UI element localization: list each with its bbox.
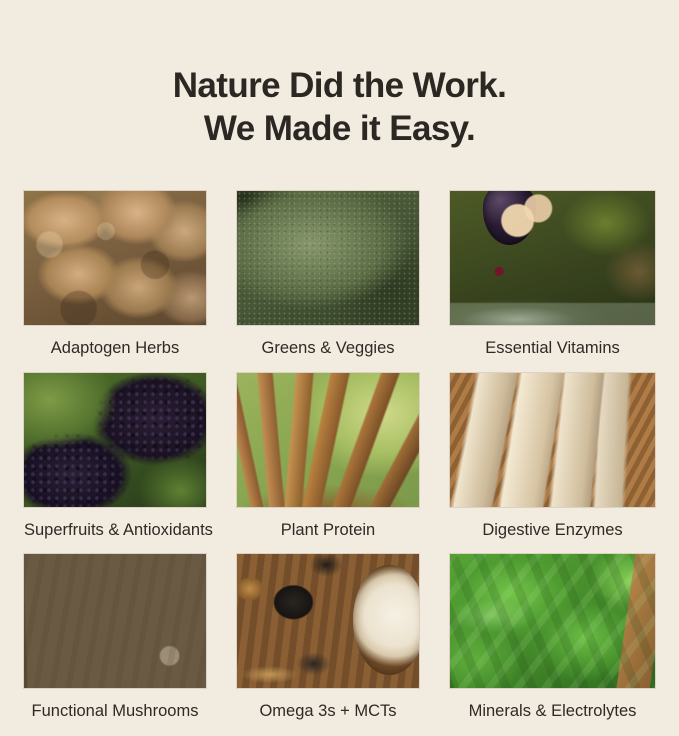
functional-mushrooms-photo — [24, 554, 206, 688]
greens-veggies-photo — [237, 191, 419, 325]
ingredient-caption: Functional Mushrooms — [24, 688, 206, 736]
page-title: Nature Did the Work. We Made it Easy. — [0, 23, 679, 150]
ingredient-caption: Digestive Enzymes — [450, 507, 655, 555]
ingredient-tile: Greens & Veggies — [237, 191, 419, 373]
ingredient-grid: Adaptogen Herbs Greens & Veggies Essenti… — [24, 174, 655, 736]
headline-line-2: We Made it Easy. — [0, 108, 679, 151]
ingredient-caption: Superfruits & Antioxidants — [24, 507, 206, 555]
ingredient-tile: Essential Vitamins — [450, 191, 655, 373]
essential-vitamins-photo — [450, 191, 655, 325]
ingredient-tile: Plant Protein — [237, 373, 419, 555]
ingredient-caption: Adaptogen Herbs — [24, 325, 206, 373]
ingredient-caption: Essential Vitamins — [450, 325, 655, 373]
ingredient-tile: Omega 3s + MCTs — [237, 554, 419, 736]
product-ingredients-poster: Nature Did the Work. We Made it Easy. Ad… — [0, 23, 679, 702]
ingredient-tile: Superfruits & Antioxidants — [24, 373, 206, 555]
adaptogen-herbs-photo — [24, 191, 206, 325]
superfruits-antioxidants-photo — [24, 373, 206, 507]
headline-line-1: Nature Did the Work. — [0, 65, 679, 108]
ingredient-tile: Functional Mushrooms — [24, 554, 206, 736]
plant-protein-photo — [237, 373, 419, 507]
digestive-enzymes-photo — [450, 373, 655, 507]
ingredient-caption: Greens & Veggies — [237, 325, 419, 373]
omega-3s-mcts-photo — [237, 554, 419, 688]
ingredient-caption: Omega 3s + MCTs — [237, 688, 419, 736]
ingredient-caption: Plant Protein — [237, 507, 419, 555]
ingredient-tile: Adaptogen Herbs — [24, 191, 206, 373]
minerals-electrolytes-photo — [450, 554, 655, 688]
ingredient-tile: Minerals & Electrolytes — [450, 554, 655, 736]
ingredient-caption: Minerals & Electrolytes — [450, 688, 655, 736]
ingredient-tile: Digestive Enzymes — [450, 373, 655, 555]
